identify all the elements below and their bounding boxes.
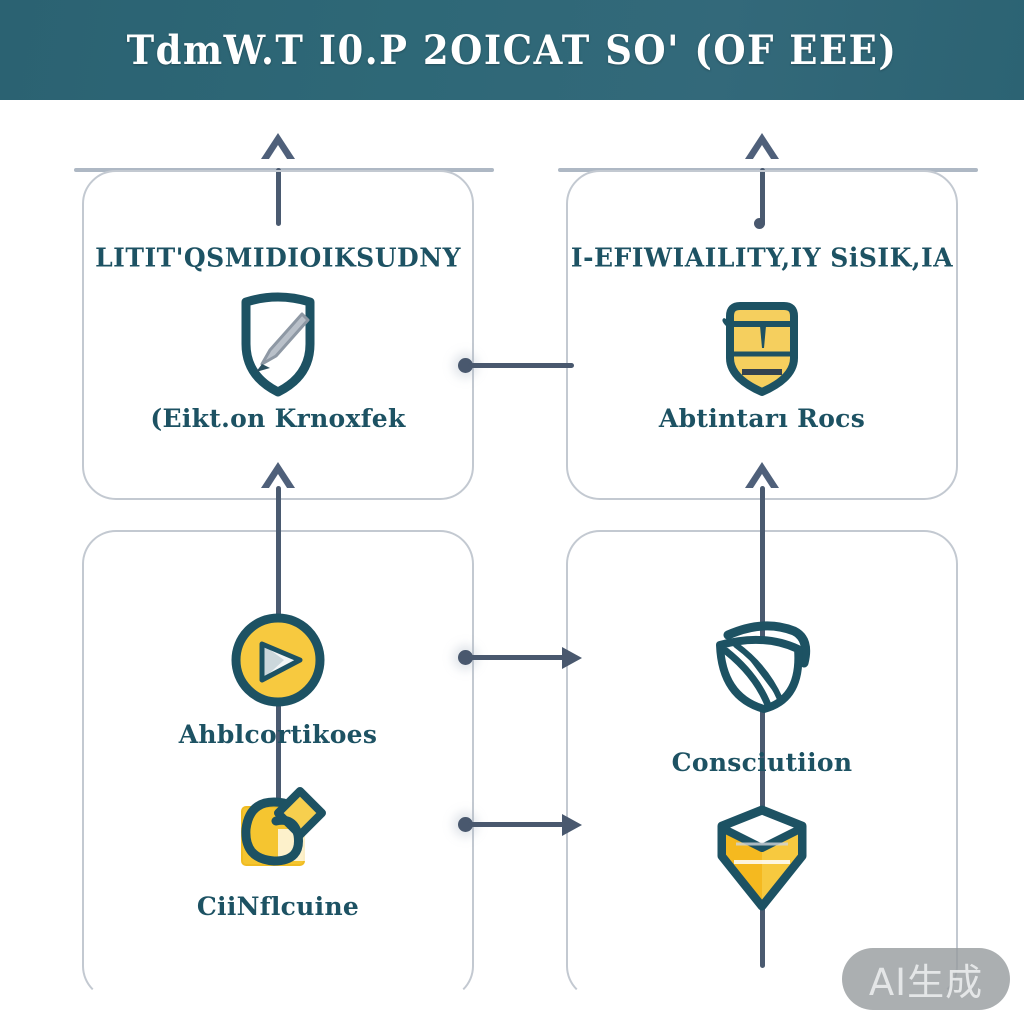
card-bottom-left-item-1-label: CiiNflcuine — [82, 892, 474, 921]
arrow-up-left-mid — [261, 462, 295, 488]
tag-note-icon — [82, 782, 474, 882]
gold-badge-icon — [566, 296, 958, 400]
connector-mid-arrowhead — [562, 647, 582, 669]
connector-upper-line — [468, 363, 574, 368]
arrow-up-right-top — [745, 133, 779, 159]
diagram-canvas: TdmW.T I0.P 2OICAT SO' (OF EEE) LITIT'QS… — [0, 0, 1024, 1024]
leaf-outline-icon — [566, 614, 958, 722]
card-top-left-heading: LITIT'QSMIDIOIKSUDNY — [82, 242, 474, 272]
connector-lower-arrowhead — [562, 814, 582, 836]
card-bottom-right-item-0-label: Consciutiion — [566, 748, 958, 777]
gold-shield-icon — [566, 800, 958, 916]
card-top-right-item-label: Abtintarı Rocs — [566, 404, 958, 433]
arrow-up-right-mid — [745, 462, 779, 488]
ai-generated-watermark: AI生成 — [842, 948, 1010, 1010]
card-top-right-heading: I-EFIWIAILITY,IY SiSIK,IA — [566, 242, 958, 272]
connector-lower-line — [468, 822, 568, 827]
card-top-left-item-label: (Eikt.on Krnoxfek — [82, 404, 474, 433]
page-title: TdmW.T I0.P 2OICAT SO' (OF EEE) — [127, 26, 898, 74]
play-circle-icon — [82, 608, 474, 712]
header-banner: TdmW.T I0.P 2OICAT SO' (OF EEE) — [0, 0, 1024, 100]
card-bottom-left-item-0-label: Ahblcortikoes — [82, 720, 474, 749]
arrow-up-left-top — [261, 133, 295, 159]
shield-pencil-icon — [82, 288, 474, 400]
connector-mid-line — [468, 655, 568, 660]
